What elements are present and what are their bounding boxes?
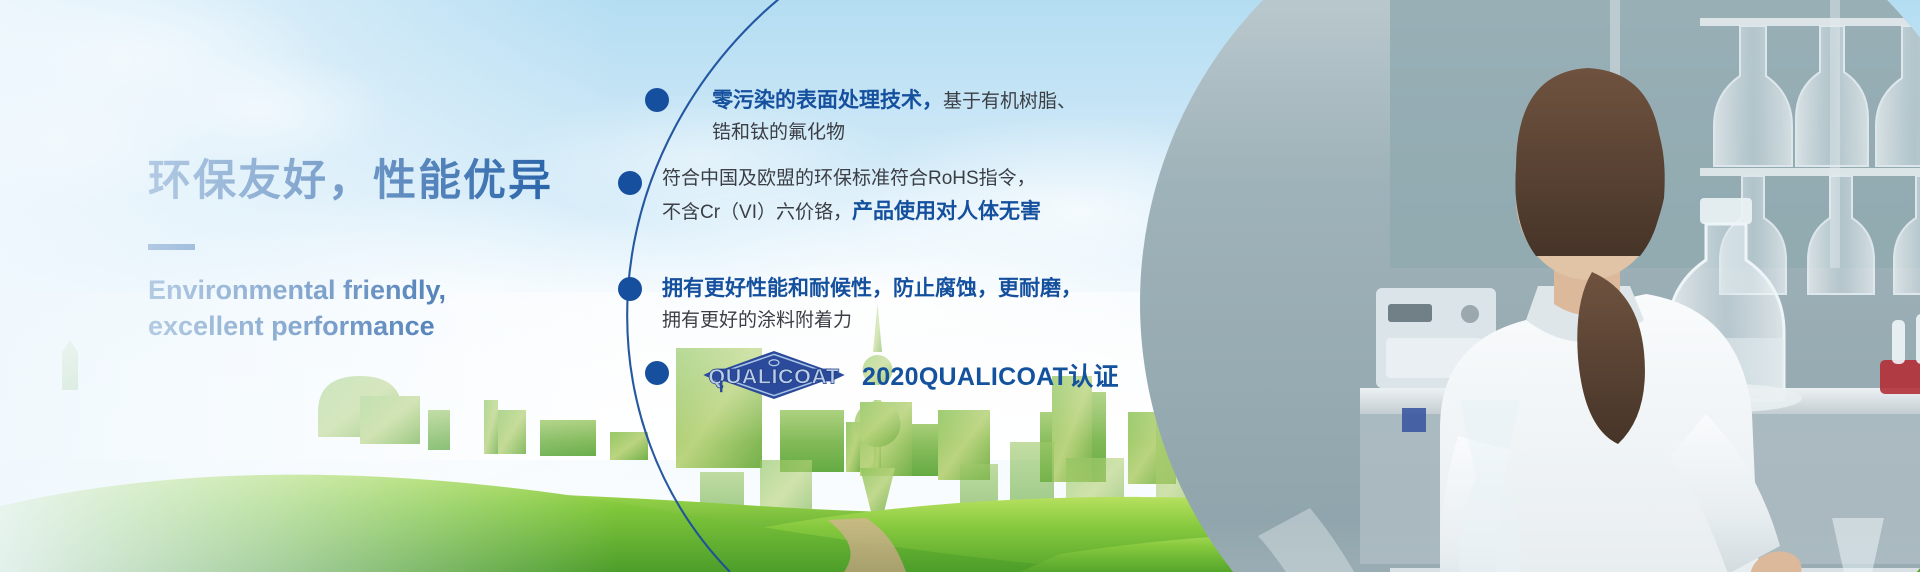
bullet-dot-icon <box>618 171 642 195</box>
lab-photo-circle <box>1140 0 1920 572</box>
bullet-line-1: 符合中国及欧盟的环保标准符合RoHS指令， <box>662 164 1041 195</box>
bullet-strong-text: 拥有更好性能和耐候性，防止腐蚀，更耐磨， <box>662 277 1082 300</box>
promo-banner: 环保友好，性能优异 Environmental friendly, excell… <box>0 0 1920 572</box>
bullet-strong-text: 产品使用对人体无害 <box>852 200 1041 223</box>
bullet-normal-text: 拥有更好的涂料附着力 <box>662 310 852 331</box>
lab-photo <box>1140 0 1920 572</box>
certification-label: 2020QUALICOAT认证 <box>862 357 1119 393</box>
bullet-line-2: 不含Cr（VI）六价铬，产品使用对人体无害 <box>662 195 1041 229</box>
bullet-normal-text: 不含Cr（VI）六价铬， <box>662 202 852 223</box>
svg-text:QUALICOAT: QUALICOAT <box>708 363 839 388</box>
bullet-text: 符合中国及欧盟的环保标准符合RoHS指令， 不含Cr（VI）六价铬，产品使用对人… <box>662 164 1041 229</box>
bullet-line-1: 拥有更好性能和耐候性，防止腐蚀，更耐磨， <box>662 272 1082 306</box>
bullet-line-2: 锆和钛的氟化物 <box>712 118 1076 149</box>
bullet-text: 拥有更好性能和耐候性，防止腐蚀，更耐磨， 拥有更好的涂料附着力 <box>662 272 1082 337</box>
bullet-normal-text: 基于有机树脂、 <box>943 91 1076 112</box>
bullet-text: 零污染的表面处理技术，基于有机树脂、 锆和钛的氟化物 <box>712 84 1076 149</box>
bullet-normal-text: 锆和钛的氟化物 <box>712 122 845 143</box>
qualicoat-logo-icon: QUALICOAT <box>700 348 848 402</box>
certification-row: QUALICOAT 2020QUALICOAT认证 <box>700 348 1119 402</box>
bullet-line-1: 零污染的表面处理技术，基于有机树脂、 <box>712 84 1076 118</box>
bullet-dot-icon <box>645 361 669 385</box>
bullet-strong-text: 零污染的表面处理技术， <box>712 89 943 112</box>
bullet-line-2: 拥有更好的涂料附着力 <box>662 306 1082 337</box>
bullet-dot-icon <box>618 277 642 301</box>
bullet-dot-icon <box>645 88 669 112</box>
bullet-normal-text: 符合中国及欧盟的环保标准符合RoHS指令， <box>662 168 1036 189</box>
